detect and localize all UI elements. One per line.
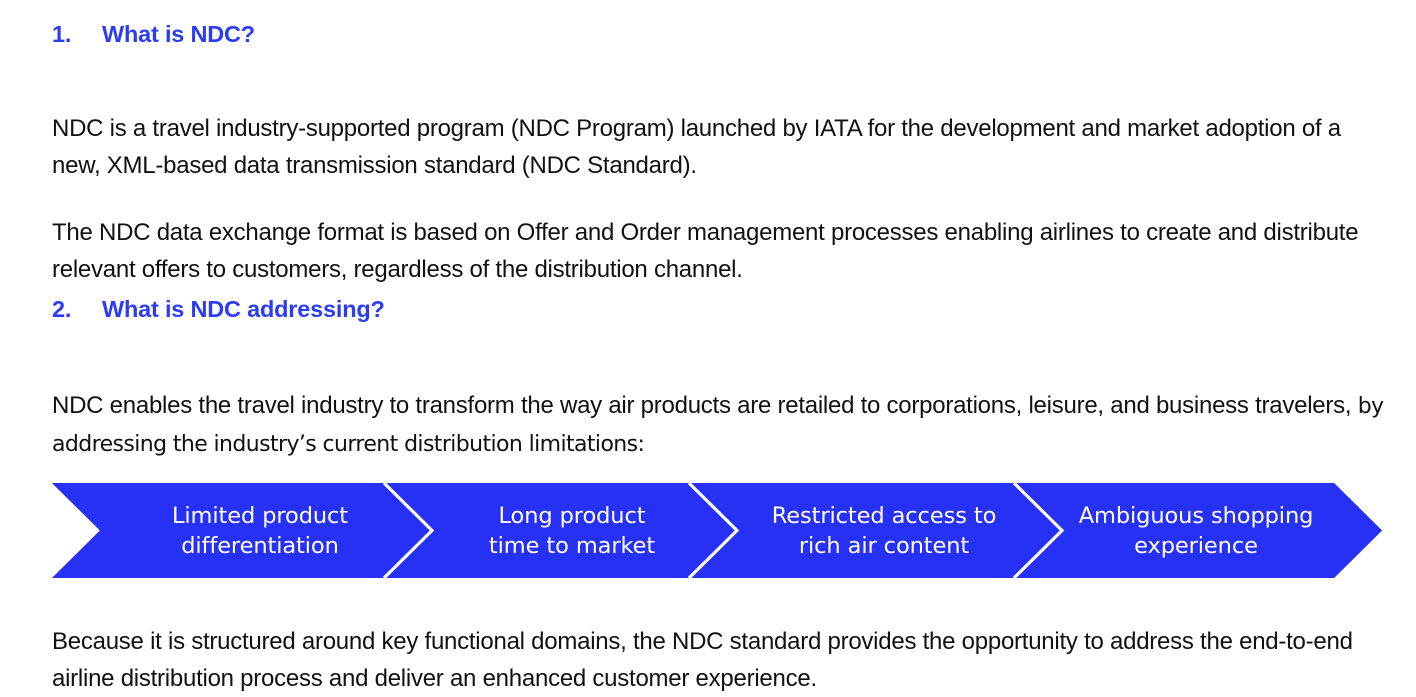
chevron-segment-4: Ambiguous shopping experience (1040, 483, 1382, 578)
chevron-segment-4-line1: Ambiguous shopping (1079, 501, 1314, 531)
paragraph-ndc-data-exchange: The NDC data exchange format is based on… (52, 214, 1392, 288)
paragraph-ndc-enables: NDC enables the travel industry to trans… (52, 387, 1392, 463)
paragraph-ndc-enables-part1: NDC enables the travel industry to trans… (52, 392, 1351, 419)
section-heading-1: 1. What is NDC? (52, 20, 255, 48)
section-number-1: 1. (52, 20, 102, 48)
chevron-banner-labels: Limited product differentiation Long pro… (52, 483, 1382, 578)
chevron-segment-3-line2: rich air content (799, 531, 969, 561)
chevron-segment-3-line1: Restricted access to (772, 501, 997, 531)
chevron-segment-1-line2: differentiation (181, 531, 339, 561)
section-number-2: 2. (52, 295, 102, 323)
chevron-banner: Limited product differentiation Long pro… (52, 483, 1382, 578)
document-page: 1. What is NDC? NDC is a travel industry… (0, 0, 1416, 690)
chevron-segment-1: Limited product differentiation (52, 483, 416, 578)
chevron-segment-2: Long product time to market (416, 483, 728, 578)
paragraph-ndc-definition: NDC is a travel industry-supported progr… (52, 110, 1392, 184)
chevron-segment-1-line1: Limited product (172, 501, 348, 531)
chevron-segment-2-line2: time to market (489, 531, 655, 561)
section-heading-2: 2. What is NDC addressing? (52, 295, 385, 323)
chevron-segment-3: Restricted access to rich air content (728, 483, 1040, 578)
paragraph-closing: Because it is structured around key func… (52, 623, 1392, 697)
chevron-segment-2-line1: Long product (499, 501, 646, 531)
section-title-2: What is NDC addressing? (102, 295, 385, 323)
section-title-1: What is NDC? (102, 20, 255, 48)
chevron-segment-4-line2: experience (1134, 531, 1258, 561)
